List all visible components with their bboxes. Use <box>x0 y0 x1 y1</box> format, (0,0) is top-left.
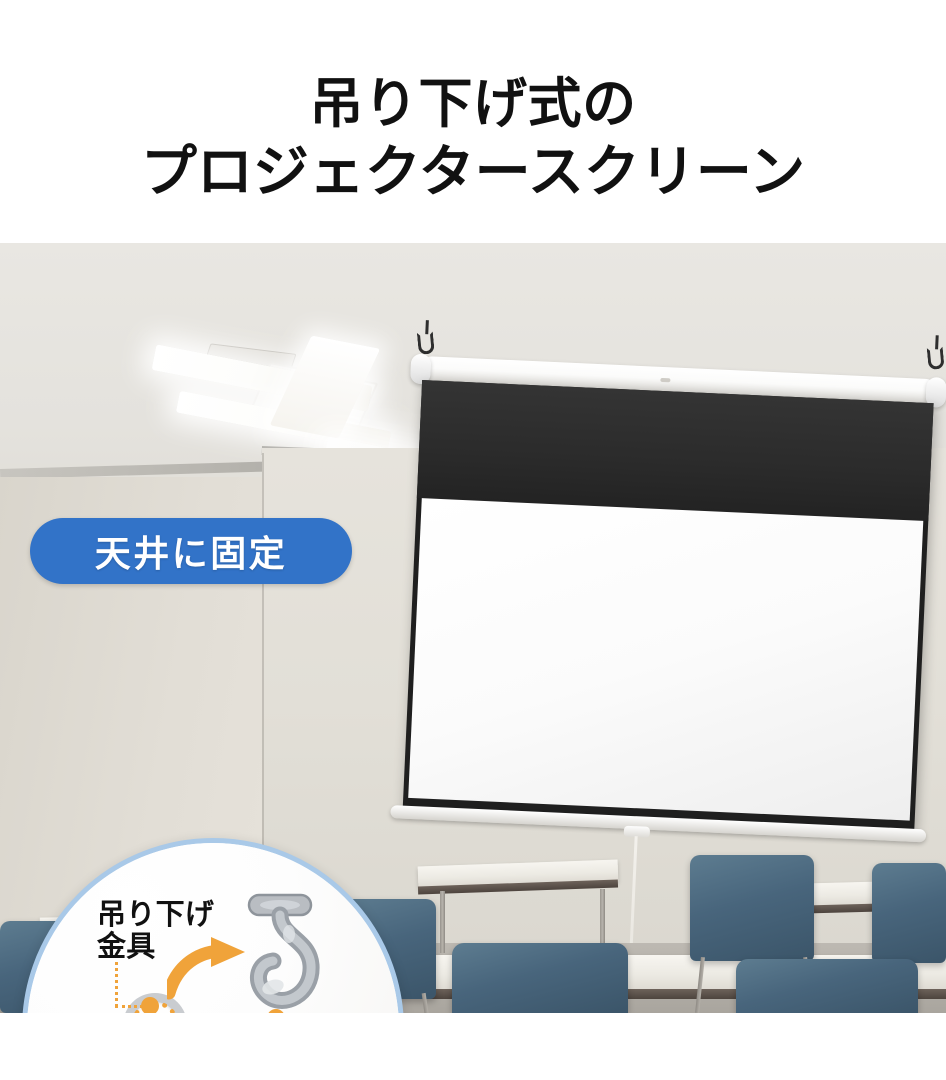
callout-label-bracket: 吊り下げ 金具 <box>97 899 214 964</box>
page-title: 吊り下げ式の プロジェクタースクリーン <box>0 76 946 201</box>
detail-callout: 吊り下げ 金具 フック など (別売) <box>22 838 404 1013</box>
table-leg <box>600 889 605 951</box>
ceiling-hook-icon <box>223 891 343 1013</box>
projector-screen <box>375 339 946 914</box>
screen-black-masking-band <box>417 380 934 521</box>
room-photo: 天井に固定 <box>0 243 946 1013</box>
chair <box>690 855 814 961</box>
status-badge: 天井に固定 <box>30 518 352 584</box>
chair <box>452 943 628 1013</box>
chair <box>736 959 918 1013</box>
headline-line-1: 吊り下げ式の <box>0 76 946 133</box>
ceiling-hook-left-icon <box>417 331 435 354</box>
screen-projection-surface <box>408 498 923 820</box>
screen-fabric <box>403 380 934 831</box>
table-leg <box>440 891 445 953</box>
bottom-whitespace <box>0 1013 946 1080</box>
roller-screw <box>660 378 670 382</box>
chair <box>872 863 946 963</box>
leader-dot-left <box>141 997 159 1013</box>
badge-label: 天井に固定 <box>95 525 288 577</box>
promo-page: 吊り下げ式の プロジェクタースクリーン <box>0 0 946 1080</box>
headline-line-2: プロジェクタースクリーン <box>0 143 946 202</box>
ceiling-hook-right-icon <box>927 347 945 370</box>
